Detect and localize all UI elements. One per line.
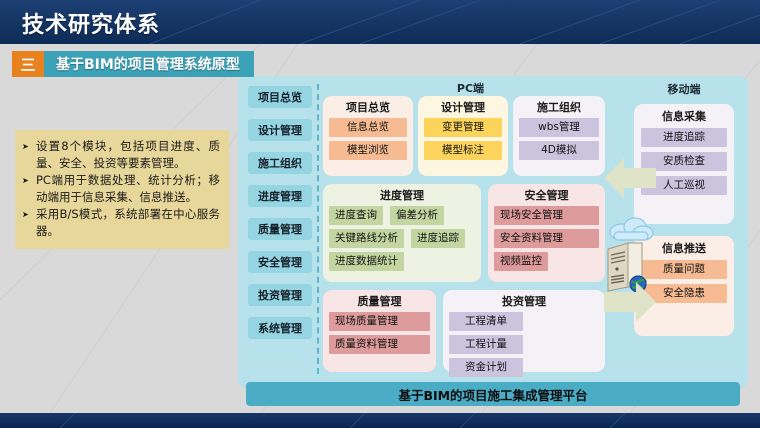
sidebar-item-design-management[interactable]: 设计管理 xyxy=(248,119,312,141)
group-construction-organization: 施工组织 wbs管理 4D模拟 xyxy=(513,96,605,176)
feature-chip[interactable]: 安全资料管理 xyxy=(494,229,599,248)
feature-chip[interactable]: 关键路线分析 xyxy=(329,229,404,248)
cloud-icon xyxy=(608,215,654,243)
group-title: 质量管理 xyxy=(329,293,430,309)
rail-divider xyxy=(317,84,319,374)
slide-footer xyxy=(0,413,760,428)
group-design-management: 设计管理 变更管理 模型标注 xyxy=(418,96,508,176)
feature-chip[interactable]: 进度数据统计 xyxy=(329,252,404,271)
feature-chip[interactable]: 模型标注 xyxy=(424,141,502,160)
mobile-panel-title: 移动端 xyxy=(628,78,740,97)
feature-chip[interactable]: 现场安全管理 xyxy=(494,206,599,225)
group-title: 信息采集 xyxy=(641,108,727,124)
sidebar-item-schedule-management[interactable]: 进度管理 xyxy=(248,185,312,207)
feature-chip[interactable]: 进度查询 xyxy=(329,206,383,225)
feature-chip[interactable]: 变更管理 xyxy=(424,118,502,137)
feature-chip[interactable]: 信息总览 xyxy=(329,118,407,137)
summary-note-box: 设置8个模块，包括项目进度、质量、安全、投资等要素管理。 PC端用于数据处理、统… xyxy=(15,130,229,249)
feature-chip[interactable]: 进度追踪 xyxy=(641,128,727,147)
sidebar-item-project-overview[interactable]: 项目总览 xyxy=(248,86,312,108)
group-title: 投资管理 xyxy=(449,293,599,309)
group-title: 项目总览 xyxy=(329,99,407,115)
feature-chip[interactable]: 4D模拟 xyxy=(519,141,599,160)
list-item: 采用B/S模式，系统部署在中心服务器。 xyxy=(22,206,220,239)
feature-chip[interactable]: 模型浏览 xyxy=(329,141,407,160)
feature-chip[interactable]: 视频监控 xyxy=(494,252,548,271)
sidebar-item-quality-management[interactable]: 质量管理 xyxy=(248,218,312,240)
section-subtitle-label: 基于BIM的项目管理系统原型 xyxy=(44,51,254,77)
arrow-left-icon xyxy=(602,155,658,201)
note-bullet-list: 设置8个模块，包括项目进度、质量、安全、投资等要素管理。 PC端用于数据处理、统… xyxy=(22,138,220,239)
group-schedule-management: 进度管理 进度查询 偏差分析 关键路线分析 进度追踪 进度数据统计 xyxy=(323,184,481,282)
platform-banner: 基于BIM的项目施工集成管理平台 xyxy=(246,382,740,406)
sidebar-item-safety-management[interactable]: 安全管理 xyxy=(248,251,312,273)
system-architecture-diagram: 项目总览 设计管理 施工组织 进度管理 质量管理 安全管理 投资管理 系统管理 … xyxy=(238,76,748,388)
feature-chip[interactable]: 偏差分析 xyxy=(390,206,444,225)
section-subtitle-bar: 三 基于BIM的项目管理系统原型 xyxy=(12,51,254,77)
server-connector-column xyxy=(600,155,664,355)
feature-chip[interactable]: 工程清单 xyxy=(449,312,523,331)
section-number-badge: 三 xyxy=(12,51,44,77)
sidebar-item-system-management[interactable]: 系统管理 xyxy=(248,317,312,339)
feature-chip[interactable]: 进度追踪 xyxy=(411,229,465,248)
slide-header: 技术研究体系 xyxy=(0,0,760,44)
feature-chip[interactable]: 现场质量管理 xyxy=(329,312,430,331)
group-title: 安全管理 xyxy=(494,187,599,203)
feature-chip[interactable]: 资金计划 xyxy=(449,358,523,377)
feature-chip[interactable]: 质量资料管理 xyxy=(329,335,430,354)
group-title: 施工组织 xyxy=(519,99,599,115)
page-title: 技术研究体系 xyxy=(22,7,160,39)
group-title: 进度管理 xyxy=(329,187,475,203)
list-item: PC端用于数据处理、统计分析；移动端用于信息采集、信息推送。 xyxy=(22,172,220,205)
group-project-overview: 项目总览 信息总览 模型浏览 xyxy=(323,96,413,176)
footer-decoration xyxy=(0,413,760,428)
group-quality-management: 质量管理 现场质量管理 质量资料管理 xyxy=(323,290,436,372)
arrow-right-icon xyxy=(602,279,658,325)
module-rail: 项目总览 设计管理 施工组织 进度管理 质量管理 安全管理 投资管理 系统管理 xyxy=(248,86,312,350)
group-title: 设计管理 xyxy=(424,99,502,115)
pc-client-panel: PC端 项目总览 信息总览 模型浏览 设计管理 变更管理 模型标注 施工组织 w… xyxy=(323,78,618,386)
sidebar-item-construction-organization[interactable]: 施工组织 xyxy=(248,152,312,174)
sidebar-item-investment-management[interactable]: 投资管理 xyxy=(248,284,312,306)
feature-chip[interactable]: wbs管理 xyxy=(519,118,599,137)
feature-chip[interactable]: 工程计量 xyxy=(449,335,523,354)
list-item: 设置8个模块，包括项目进度、质量、安全、投资等要素管理。 xyxy=(22,138,220,171)
group-safety-management: 安全管理 现场安全管理 安全资料管理 视频监控 xyxy=(488,184,605,282)
group-investment-management: 投资管理 工程清单 工程计量 资金计划 xyxy=(443,290,605,372)
